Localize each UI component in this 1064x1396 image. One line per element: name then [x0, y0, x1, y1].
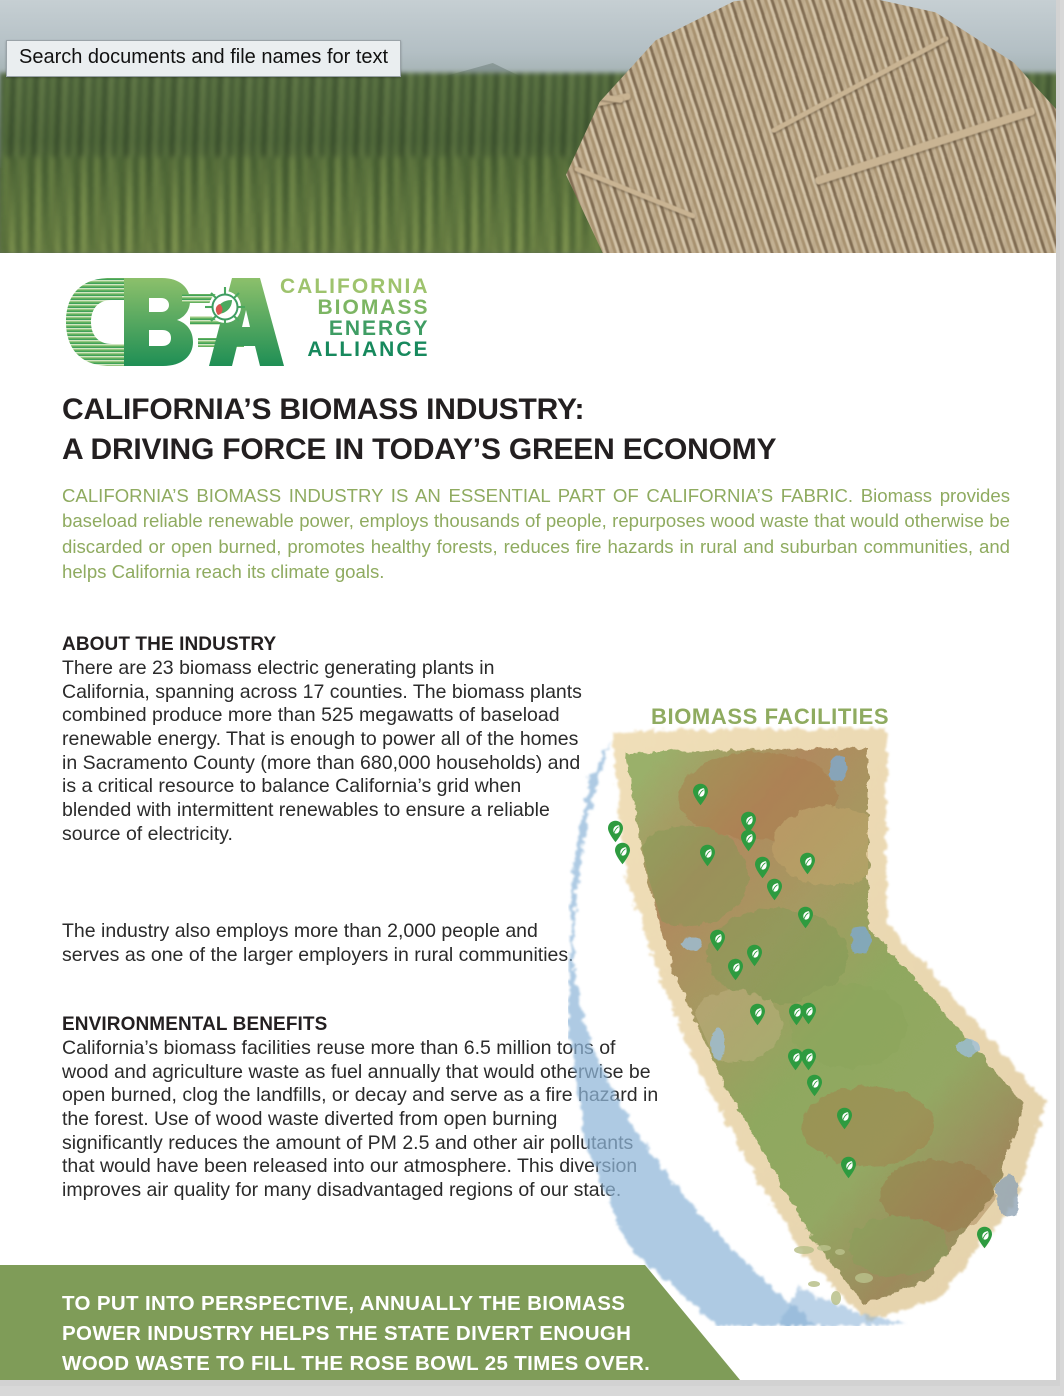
logo-line-california: CALIFORNIA	[280, 276, 430, 297]
map-pin-icon	[800, 1048, 817, 1071]
about-paragraph-1: There are 23 biomass electric generating…	[62, 657, 582, 847]
biomass-facilities-map	[568, 726, 1060, 1326]
map-pin-icon	[692, 783, 709, 806]
about-paragraph-2-block: The industry also employs more than 2,00…	[62, 920, 592, 967]
hero-photo	[0, 0, 1060, 253]
footer-banner-text: TO PUT INTO PERSPECTIVE, ANNUALLY THE BI…	[62, 1289, 742, 1379]
map-pin-icon	[746, 944, 763, 967]
about-paragraph-2: The industry also employs more than 2,00…	[62, 920, 592, 967]
map-pin-icon	[607, 820, 624, 843]
footer-line-3: WOOD WASTE TO FILL THE ROSE BOWL 25 TIME…	[62, 1349, 742, 1379]
document-page: Search documents and file names for text	[0, 0, 1060, 1386]
logo-line-energy: ENERGY	[329, 318, 430, 339]
cbea-logo-mark	[64, 272, 284, 372]
page-title-line-2: A DRIVING FORCE IN TODAY’S GREEN ECONOMY	[62, 430, 962, 470]
about-heading: ABOUT THE INDUSTRY	[62, 634, 582, 656]
footer-line-2: POWER INDUSTRY HELPS THE STATE DIVERT EN…	[62, 1319, 742, 1349]
map-pin-icon	[797, 906, 814, 929]
cbea-logo: CALIFORNIA BIOMASS ENERGY ALLIANCE	[64, 272, 404, 372]
map-pin-icon	[727, 958, 744, 981]
map-pin-icon	[614, 842, 631, 865]
map-pin-icon	[740, 829, 757, 852]
map-title: BIOMASS FACILITIES	[651, 704, 889, 730]
lede-paragraph: CALIFORNIA’S BIOMASS INDUSTRY IS AN ESSE…	[62, 483, 1010, 585]
page-title: CALIFORNIA’S BIOMASS INDUSTRY: A DRIVING…	[62, 390, 962, 470]
map-pin-icon	[699, 844, 716, 867]
map-pin-icon	[754, 856, 771, 879]
search-tooltip[interactable]: Search documents and file names for text	[6, 40, 401, 77]
logo-line-alliance: ALLIANCE	[307, 339, 429, 360]
map-pin-icon	[976, 1226, 993, 1249]
lede-headline: CALIFORNIA’S BIOMASS INDUSTRY IS AN ESSE…	[62, 485, 853, 506]
page-title-line-1: CALIFORNIA’S BIOMASS INDUSTRY:	[62, 390, 962, 430]
map-pin-icon	[709, 929, 726, 952]
map-pin-icon	[800, 1002, 817, 1025]
map-pin-icon	[840, 1156, 857, 1179]
section-about-the-industry: ABOUT THE INDUSTRY There are 23 biomass …	[62, 634, 582, 847]
leaf-medallion	[205, 287, 245, 327]
cbea-logo-wordmark: CALIFORNIA BIOMASS ENERGY ALLIANCE	[280, 276, 430, 360]
map-pin-icon	[799, 852, 816, 875]
map-pin-icon	[749, 1003, 766, 1026]
map-pin-icon	[836, 1107, 853, 1130]
map-pin-icon	[766, 878, 783, 901]
logo-line-biomass: BIOMASS	[317, 297, 429, 318]
map-pin-icon	[806, 1074, 823, 1097]
footer-line-1: TO PUT INTO PERSPECTIVE, ANNUALLY THE BI…	[62, 1289, 742, 1319]
